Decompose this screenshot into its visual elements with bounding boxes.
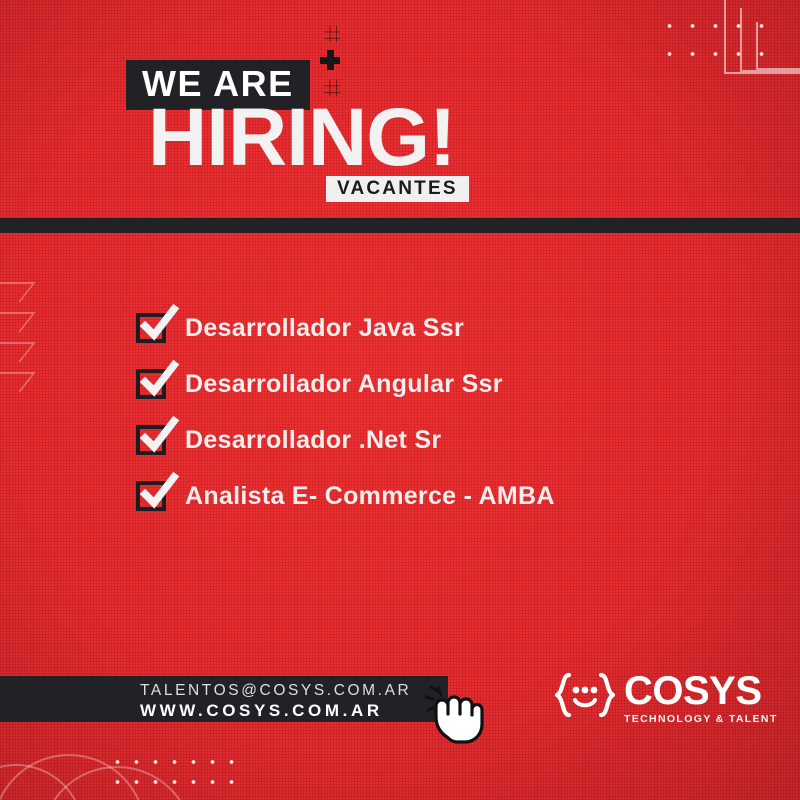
pointing-hand-cursor-icon — [424, 684, 486, 746]
cosys-smiley-brace-icon — [552, 672, 618, 718]
checkbox-checked-icon[interactable] — [136, 369, 166, 399]
logo-text-block: COSYS TECHNOLOGY & TALENT — [624, 672, 778, 725]
cosys-logo: COSYS TECHNOLOGY & TALENT — [552, 672, 778, 725]
vacantes-badge: VACANTES — [326, 176, 469, 202]
job-title: Analista E- Commerce - AMBA — [185, 482, 555, 511]
section-divider — [0, 218, 800, 233]
job-openings-list: Desarrollador Java Ssr Desarrollador Ang… — [136, 300, 736, 524]
contact-email[interactable]: TALENTOS@COSYS.COM.AR — [140, 682, 411, 700]
list-item[interactable]: Analista E- Commerce - AMBA — [136, 468, 736, 524]
checkbox-checked-icon[interactable] — [136, 425, 166, 455]
logo-tagline: TECHNOLOGY & TALENT — [624, 713, 778, 725]
vacantes-label: VACANTES — [337, 179, 458, 198]
job-title: Desarrollador Angular Ssr — [185, 370, 503, 399]
list-item[interactable]: Desarrollador Java Ssr — [136, 300, 736, 356]
list-item[interactable]: Desarrollador .Net Sr — [136, 412, 736, 468]
job-title: Desarrollador Java Ssr — [185, 314, 464, 343]
job-title: Desarrollador .Net Sr — [185, 426, 441, 455]
logo-wordmark: COSYS — [624, 672, 778, 710]
hiring-poster: WE ARE HIRING! VACANTES Desarrollador Ja… — [0, 0, 800, 800]
list-item[interactable]: Desarrollador Angular Ssr — [136, 356, 736, 412]
checkbox-checked-icon[interactable] — [136, 313, 166, 343]
checkbox-checked-icon[interactable] — [136, 481, 166, 511]
hiring-headline: HIRING! — [148, 97, 455, 179]
contact-website[interactable]: WWW.COSYS.COM.AR — [140, 701, 383, 721]
